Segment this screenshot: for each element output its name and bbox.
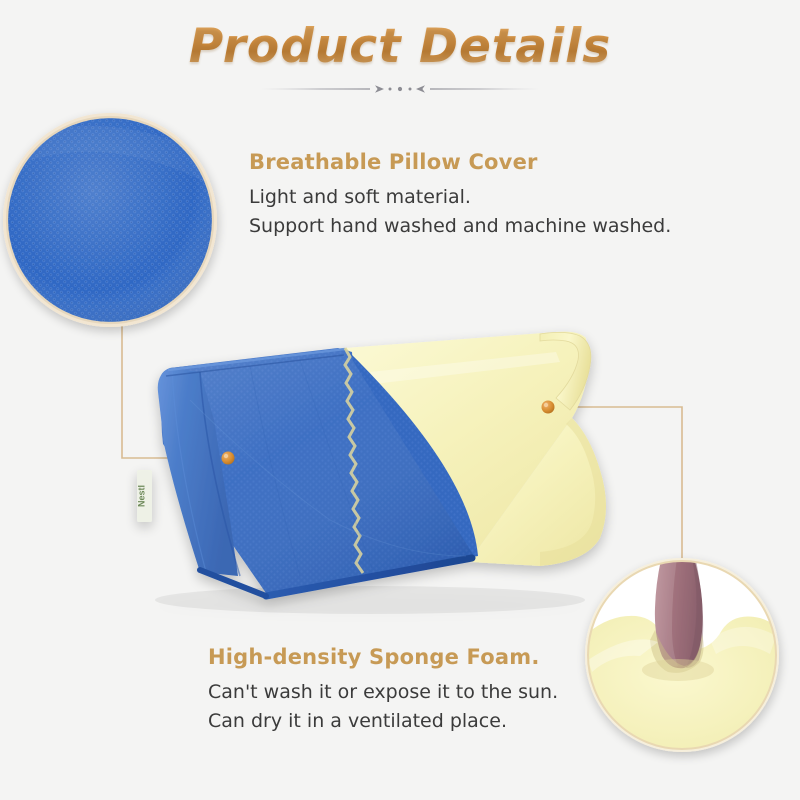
foam-press-closeup[interactable]: [580, 550, 790, 760]
foam-circle-content: [580, 550, 790, 760]
callout-text-breathable-cover: Breathable Pillow Cover Light and soft m…: [249, 150, 671, 242]
callout-heading-breathable-cover: Breathable Pillow Cover: [249, 150, 671, 174]
callout-marker-left[interactable]: [222, 452, 235, 465]
wedge-pillow: Nestl: [137, 332, 607, 614]
brand-label-text: Nestl: [137, 485, 147, 507]
callout-line-breathable-cover-1: Light and soft material.: [249, 183, 671, 212]
fabric-mesh-closeup[interactable]: [3, 113, 217, 327]
callout-line-sponge-foam-2: Can dry it in a ventilated place.: [208, 707, 558, 736]
foam-dent-ellipse: [642, 659, 714, 681]
callout-line-sponge-foam-1: Can't wash it or expose it to the sun.: [208, 678, 558, 707]
brand-label-tag: Nestl: [137, 470, 153, 522]
callout-heading-sponge-foam: High-density Sponge Foam.: [208, 645, 558, 669]
callout-text-sponge-foam: High-density Sponge Foam. Can't wash it …: [208, 645, 558, 737]
callout-line-breathable-cover-2: Support hand washed and machine washed.: [249, 212, 671, 241]
product-details-canvas: Product Details: [0, 0, 800, 800]
callout-marker-right[interactable]: [542, 401, 555, 414]
pillow-ground-shadow: [155, 586, 585, 614]
